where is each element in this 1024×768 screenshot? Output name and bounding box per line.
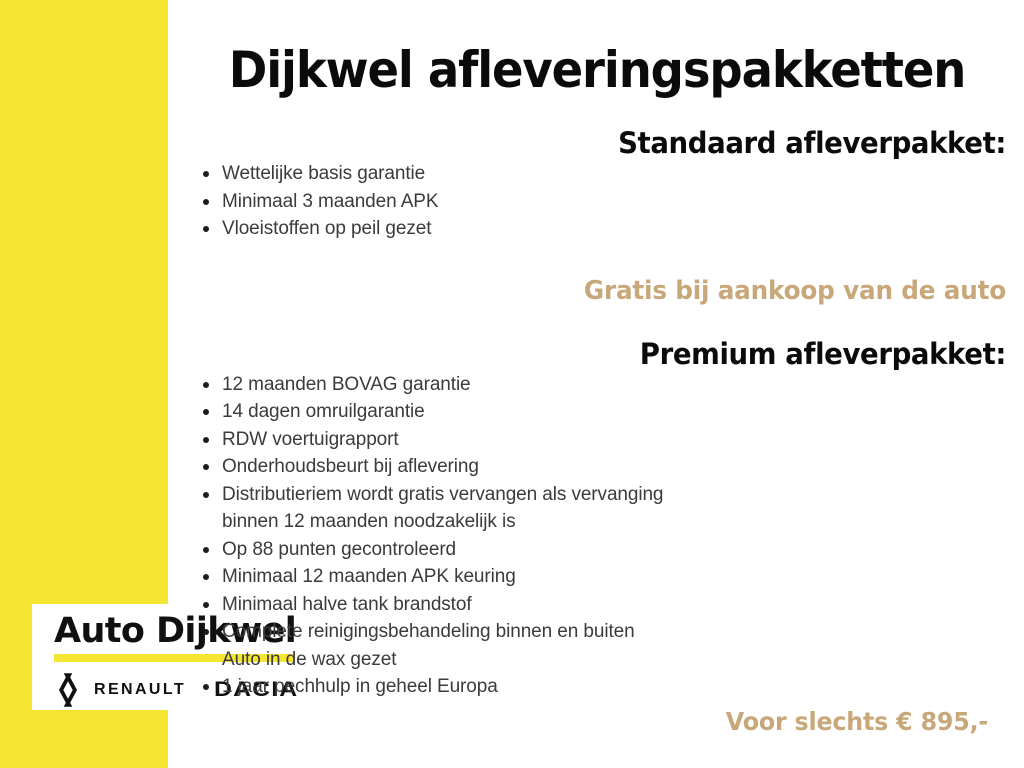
- list-item: Vloeistoffen op peil gezet: [188, 215, 1006, 243]
- standard-package-accent-note: Gratis bij aankoop van de auto: [229, 243, 1006, 307]
- list-item: Minimaal 3 maanden APK: [188, 188, 1006, 216]
- standard-package-heading: Standaard afleverpakket:: [229, 98, 1006, 160]
- list-item: Onderhoudsbeurt bij aflevering: [188, 453, 1006, 481]
- premium-package-heading: Premium afleverpakket:: [229, 307, 1006, 371]
- renault-diamond-icon: [54, 672, 82, 708]
- list-item: Minimaal 12 maanden APK keuring: [188, 563, 1006, 591]
- premium-package-list: 12 maanden BOVAG garantie 14 dagen omrui…: [188, 371, 1006, 701]
- standard-package-list: Wettelijke basis garantie Minimaal 3 maa…: [188, 160, 1006, 243]
- list-item-continuation: binnen 12 maanden noodzakelijk is: [188, 508, 1006, 536]
- premium-package-price: Voor slechts € 895,-: [726, 707, 988, 737]
- list-item: 14 dagen omruilgarantie: [188, 398, 1006, 426]
- page-title: Dijkwel afleveringspakketten: [217, 0, 978, 98]
- renault-wordmark: RENAULT: [94, 681, 186, 699]
- list-item: Distributieriem wordt gratis vervangen a…: [188, 481, 1006, 509]
- list-item-continuation: Auto in de wax gezet: [188, 646, 1006, 674]
- list-item: 1 jaar pechhulp in geheel Europa: [188, 673, 1006, 701]
- list-item: Complete reinigingsbehandeling binnen en…: [188, 618, 1006, 646]
- list-item: Minimaal halve tank brandstof: [188, 591, 1006, 619]
- list-item: 12 maanden BOVAG garantie: [188, 371, 1006, 399]
- list-item: RDW voertuigrapport: [188, 426, 1006, 454]
- content-column: Dijkwel afleveringspakketten Standaard a…: [188, 0, 1006, 768]
- list-item: Wettelijke basis garantie: [188, 160, 1006, 188]
- delivery-packages-poster: Auto Dijkwel RENAULT DACIA Dijkwel aflev…: [0, 0, 1024, 768]
- list-item: Op 88 punten gecontroleerd: [188, 536, 1006, 564]
